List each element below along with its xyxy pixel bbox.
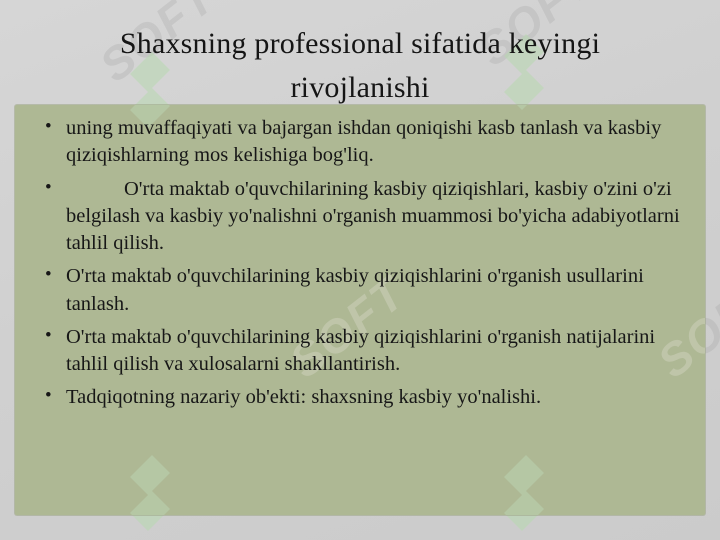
bullet-text: Tadqiqotning nazariy ob'ekti: shaxsning … (66, 386, 541, 408)
bullet-text: O'rta maktab o'quvchilarining kasbiy qiz… (66, 178, 680, 255)
bullet-text: O'rta maktab o'quvchilarining kasbiy qiz… (66, 326, 655, 375)
list-item: uning muvaffaqiyati va bajargan ishdan q… (31, 115, 691, 170)
list-item: Tadqiqotning nazariy ob'ekti: shaxsning … (31, 384, 691, 411)
bullet-list: uning muvaffaqiyati va bajargan ishdan q… (15, 105, 705, 412)
watermark-logo-icon (118, 455, 174, 515)
slide-title: Shaxsning professional sifatida keyingi … (36, 22, 684, 109)
presentation-slide: SOFT SOFT SOFT SOFT Shaxsning profession… (0, 0, 720, 540)
list-item: O'rta maktab o'quvchilarining kasbiy qiz… (31, 263, 691, 318)
slide-title-line-2: rivojlanishi (36, 66, 684, 110)
bullet-text: uning muvaffaqiyati va bajargan ishdan q… (66, 117, 661, 166)
list-item: O'rta maktab o'quvchilarining kasbiy qiz… (31, 176, 691, 258)
bullet-text: O'rta maktab o'quvchilarining kasbiy qiz… (66, 265, 644, 314)
slide-content-box: SOFT SOFT SOFT SOFT (15, 105, 705, 515)
slide-title-line-1: Shaxsning professional sifatida keyingi (36, 22, 684, 66)
watermark-logo-icon (492, 455, 548, 515)
list-item: O'rta maktab o'quvchilarining kasbiy qiz… (31, 324, 691, 379)
